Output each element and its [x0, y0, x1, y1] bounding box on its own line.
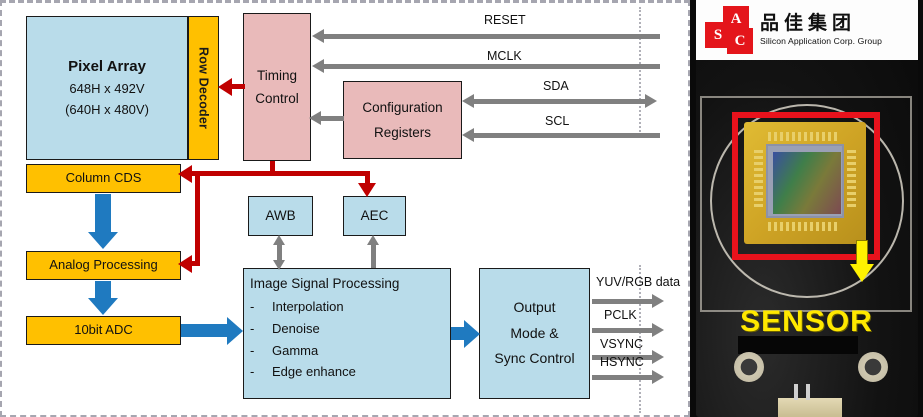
timing-control-line2: Control: [255, 90, 299, 107]
isp-item-gamma: - Gamma: [250, 343, 450, 360]
pixel-array-resolution: 648H x 492V: [69, 81, 144, 98]
sensor-block-diagram: Pixel Array 648H x 492V (640H x 480V) Ro…: [0, 0, 690, 417]
gray-arrowhead-mclk: [312, 59, 324, 73]
block-configuration-registers: Configuration Registers: [343, 81, 462, 159]
gray-line-reset: [324, 34, 660, 39]
gray-line-mclk: [324, 64, 660, 69]
block-awb: AWB: [248, 196, 313, 236]
sensor-photo-panel: A S C 品佳集团 Silicon Application Corp. Gro…: [690, 0, 923, 417]
gray-arrowhead-hsync: [652, 370, 664, 384]
gray-arrowhead-awb-down: [273, 260, 285, 270]
gray-line-pclk: [592, 328, 654, 333]
gray-arrowhead-yuv-rgb: [652, 294, 664, 308]
isp-item-label: Denoise: [272, 321, 320, 338]
output-mode-line1: Output: [513, 299, 555, 317]
boundary-dashed-line-top: [639, 7, 641, 135]
company-name-english: Silicon Application Corp. Group: [760, 36, 882, 46]
red-arrowhead-analog-processing: [178, 255, 192, 273]
gray-arrowhead-pclk: [652, 323, 664, 337]
isp-item-label: Edge enhance: [272, 364, 356, 381]
arrow-analog-to-adc: [88, 281, 118, 316]
block-adc: 10bit ADC: [26, 316, 181, 345]
arrow-column-cds-to-analog: [88, 194, 118, 250]
timing-control-line1: Timing: [257, 67, 297, 84]
config-registers-line1: Configuration: [362, 99, 442, 116]
red-line-vertical-to-analog: [195, 171, 200, 266]
mounting-hole-right: [858, 352, 888, 382]
gray-line-hsync: [592, 375, 654, 380]
red-line-timing-to-row-decoder: [230, 84, 245, 89]
signal-label-reset: RESET: [484, 13, 526, 27]
gray-line-config-to-timing: [320, 116, 344, 121]
isp-dash: -: [250, 343, 272, 360]
gray-arrowhead-reset: [312, 29, 324, 43]
signal-label-sda: SDA: [543, 79, 569, 93]
gray-line-sda: [474, 99, 646, 104]
company-logo-banner: A S C 品佳集团 Silicon Application Corp. Gro…: [696, 0, 918, 60]
signal-label-vsync: VSYNC: [600, 337, 643, 351]
isp-dash: -: [250, 299, 272, 316]
signal-label-mclk: MCLK: [487, 49, 522, 63]
block-image-signal-processing: Image Signal Processing - Interpolation …: [243, 268, 451, 399]
block-column-cds: Column CDS: [26, 164, 181, 193]
gray-line-aec-isp: [371, 244, 376, 268]
isp-item-label: Interpolation: [272, 299, 344, 316]
board-connector: [778, 398, 842, 417]
awb-label: AWB: [265, 207, 295, 224]
gray-arrowhead-vsync: [652, 350, 664, 364]
isp-dash: -: [250, 321, 272, 338]
gray-arrowhead-sda-left: [462, 94, 474, 108]
gray-arrowhead-scl: [462, 128, 474, 142]
arrow-isp-to-output: [451, 319, 481, 348]
isp-header: Image Signal Processing: [250, 275, 399, 292]
block-pixel-array: Pixel Array 648H x 492V (640H x 480V): [26, 16, 188, 160]
gray-arrowhead-timing-control: [309, 111, 321, 125]
company-name-chinese: 品佳集团: [760, 14, 882, 34]
red-arrowhead-column-cds: [178, 165, 192, 183]
mounting-hole-left: [734, 352, 764, 382]
block-timing-control: Timing Control: [243, 13, 311, 161]
gray-line-yuv-rgb: [592, 299, 654, 304]
gray-arrowhead-sda-right: [645, 94, 657, 108]
isp-item-edge-enhance: - Edge enhance: [250, 364, 450, 381]
config-registers-line2: Registers: [374, 124, 431, 141]
block-aec: AEC: [343, 196, 406, 236]
block-analog-processing: Analog Processing: [26, 251, 181, 280]
signal-label-hsync: HSYNC: [600, 355, 644, 369]
sac-logo-icon: A S C: [702, 4, 758, 56]
yellow-pointer-arrow-icon: [850, 240, 874, 282]
red-bus-horizontal-top: [188, 171, 370, 176]
gray-line-scl: [474, 133, 660, 138]
isp-dash: -: [250, 364, 272, 381]
aec-label: AEC: [361, 207, 389, 224]
output-mode-line3: Sync Control: [494, 350, 574, 368]
gray-arrowhead-aec-up: [367, 235, 379, 245]
row-decoder-label: Row Decoder: [196, 47, 212, 129]
red-highlight-box: [732, 112, 880, 260]
arrow-adc-to-isp: [181, 316, 244, 345]
signal-label-pclk: PCLK: [604, 308, 637, 322]
adc-label: 10bit ADC: [74, 322, 133, 339]
signal-label-scl: SCL: [545, 114, 569, 128]
output-mode-line2: Mode &: [510, 325, 558, 343]
column-cds-label: Column CDS: [66, 170, 142, 187]
red-arrowhead-aec: [358, 183, 376, 197]
block-output-mode-sync-control: Output Mode & Sync Control: [479, 268, 590, 399]
block-row-decoder: Row Decoder: [188, 16, 219, 160]
signal-label-yuv-rgb-data: YUV/RGB data: [596, 275, 680, 289]
pixel-array-title: Pixel Array: [68, 57, 146, 76]
pixel-array-active-resolution: (640H x 480V): [65, 102, 149, 119]
sensor-caption: SENSOR: [690, 305, 923, 339]
company-name-block: 品佳集团 Silicon Application Corp. Group: [760, 14, 882, 46]
pcb-board: [696, 0, 918, 417]
logo-letter-c: C: [727, 28, 753, 54]
isp-item-interpolation: - Interpolation: [250, 299, 450, 316]
isp-item-denoise: - Denoise: [250, 321, 450, 338]
analog-processing-label: Analog Processing: [49, 257, 157, 274]
screenshot-root: Pixel Array 648H x 492V (640H x 480V) Ro…: [0, 0, 923, 417]
red-arrowhead-row-decoder: [218, 78, 232, 96]
isp-item-label: Gamma: [272, 343, 318, 360]
gray-arrowhead-awb-up: [273, 235, 285, 245]
